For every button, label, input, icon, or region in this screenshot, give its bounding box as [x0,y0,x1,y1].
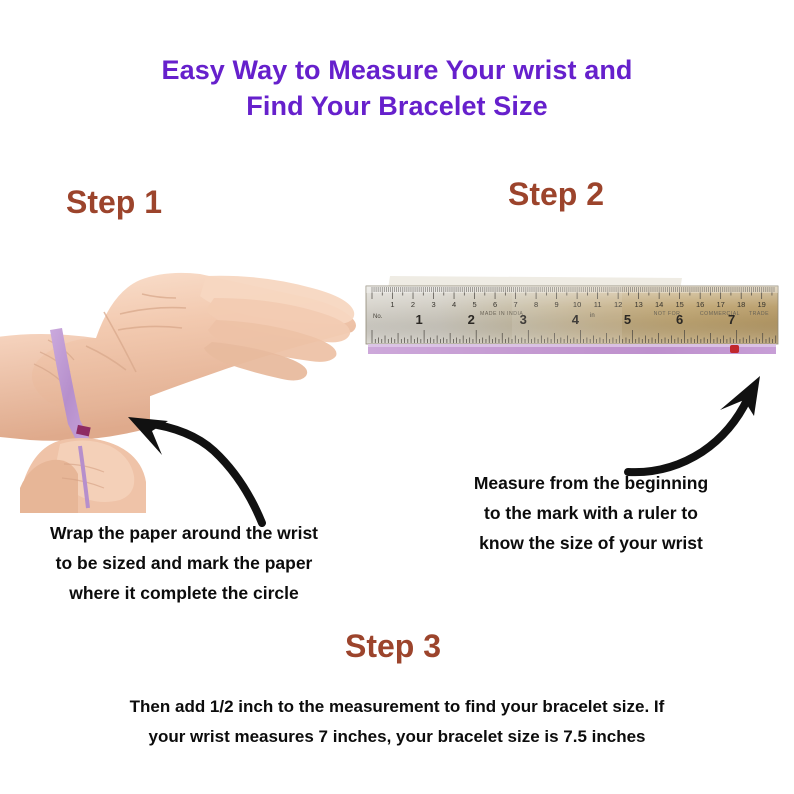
page-title-line-2: Find Your Bracelet Size [0,88,794,124]
step-3-caption: Then add 1/2 inch to the measurement to … [52,692,742,752]
step-3-caption-line-2: your wrist measures 7 inches, your brace… [52,722,742,752]
ruler-engraving-commercial: COMMERCIAL [700,311,740,317]
step-2-caption: Measure from the beginning to the mark w… [396,468,786,558]
inch-label-1: 1 [415,312,422,327]
cm-label-14: 14 [655,300,663,309]
cm-label-5: 5 [472,300,476,309]
arrow-to-ruler-mark-icon [626,368,791,483]
step-1-caption-line-1: Wrap the paper around the wrist [8,518,360,548]
ruler-engraving-trade: TRADE [749,311,769,317]
step-1-heading: Step 1 [66,184,162,220]
cm-label-17: 17 [716,300,724,309]
cm-label-15: 15 [675,300,683,309]
step-2-caption-line-3: know the size of your wrist [396,528,786,558]
poster-canvas: Easy Way to Measure Your wrist and Find … [0,0,794,794]
cm-label-4: 4 [452,300,456,309]
ruler-corner-label: No. [373,314,383,320]
step-2-heading: Step 2 [508,176,604,212]
cm-label-6: 6 [493,300,497,309]
step-1-caption: Wrap the paper around the wrist to be si… [8,518,360,608]
inch-label-5: 5 [624,312,631,327]
cm-label-13: 13 [634,300,642,309]
pinch-finger-2 [20,460,78,513]
ruler-illustration: 12345678910111213141516171819 1234567 MA… [362,272,782,367]
ruler-engraving-not-for: NOT FOR [654,311,681,317]
step-1-caption-line-2: to be sized and mark the paper [8,548,360,578]
step-3-caption-line-1: Then add 1/2 inch to the measurement to … [52,692,742,722]
cm-label-19: 19 [758,300,766,309]
cm-label-18: 18 [737,300,745,309]
inch-label-2: 2 [468,312,475,327]
cm-label-1: 1 [390,300,394,309]
step-3-heading: Step 3 [345,628,441,664]
paper-strip-red-mark [730,345,739,353]
cm-label-2: 2 [411,300,415,309]
page-title: Easy Way to Measure Your wrist and Find … [0,52,794,124]
cm-label-16: 16 [696,300,704,309]
step-2-caption-line-2: to the mark with a ruler to [396,498,786,528]
cm-label-3: 3 [431,300,435,309]
step-2-caption-line-1: Measure from the beginning [396,468,786,498]
arrow-to-wrist-mark-icon [118,405,268,525]
page-title-line-1: Easy Way to Measure Your wrist and [0,52,794,88]
step-1-caption-line-3: where it complete the circle [8,578,360,608]
